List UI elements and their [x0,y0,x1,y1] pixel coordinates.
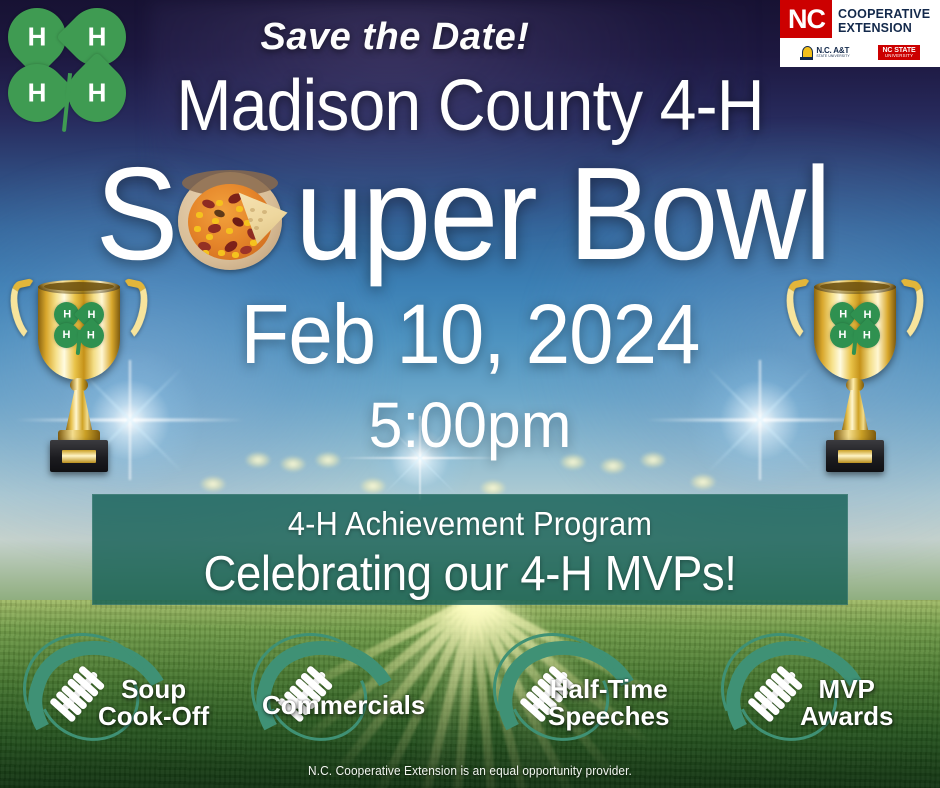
bell-tower-icon [800,45,813,60]
event-title-prefix: S [96,148,177,280]
trophy-handle-right [116,280,146,342]
soup-corn [196,212,203,218]
trophy-clover-emblem: HHHH [54,302,104,350]
logo-top-row: NC COOPERATIVE EXTENSION [780,0,940,38]
activity-label-line1: Commercials [262,692,425,719]
activity-label-line1: Half-Time [548,676,669,703]
logo-extension-text: EXTENSION [838,22,930,36]
event-title-suffix: uper Bowl [295,148,830,280]
stadium-bulb [360,478,386,494]
clover-leaf-letter: H [839,309,847,321]
soup-bean [239,245,253,256]
chip-speckle [262,210,267,214]
soup-corn [232,252,239,258]
clover-leaf-letter: H [63,309,71,321]
activity-label-line2: Awards [800,703,893,730]
soup-bean [201,198,216,210]
activity-label-line2: Speeches [548,703,669,730]
page-title: Madison County 4-H [38,70,903,142]
activity-label-line1: Soup [98,676,209,703]
banner-headline: Celebrating our 4-H MVPs! [118,540,821,599]
stadium-bulb [600,458,626,474]
banner-subtitle: 4-H Achievement Program [118,494,821,540]
logo-partner-row: N.C. A&T STATE UNIVERSITY NC STATE UNIVE… [780,38,940,67]
soup-corn [206,234,213,240]
activity-label-line2: Cook-Off [98,703,209,730]
activity-label: MVPAwards [800,676,893,729]
chip-speckle [254,226,259,230]
stadium-bulb [690,474,716,490]
activity-label: Half-TimeSpeeches [548,676,669,729]
nc-at-wordmark: N.C. A&T STATE UNIVERSITY [816,47,849,58]
soup-corn [216,200,223,206]
activity-label-line1: MVP [800,676,893,703]
clover-leaf-letter: H [88,330,96,342]
trophy-knob [846,378,864,392]
trophy-left: HHHH [14,262,144,477]
event-poster: NC COOPERATIVE EXTENSION N.C. A&T STATE … [0,0,940,788]
nc-cooperative-extension-logo: NC COOPERATIVE EXTENSION N.C. A&T STATE … [780,0,940,67]
logo-cooperative-text: COOPERATIVE [838,8,930,22]
trophy-knob [70,378,88,392]
soup-corn [250,240,257,246]
soup-corn [194,226,201,232]
save-the-date-text: Save the Date! [0,16,790,59]
clover-leaf-letter: H [864,330,872,342]
soup-bowl-icon [174,168,286,274]
trophy-handle-right [892,280,922,342]
activity-label: SoupCook-Off [98,676,209,729]
soup-bean [207,223,221,234]
nc-state-logo: NC STATE UNIVERSITY [878,45,919,60]
trophy-bowl-interior [820,282,890,291]
soup-corn [218,250,225,256]
extension-wordmark: COOPERATIVE EXTENSION [832,0,930,38]
event-date: Feb 10, 2024 [24,292,917,376]
chip-speckle [258,218,263,222]
trophy-nameplate [838,450,872,463]
trophy-right: HHHH [790,262,920,477]
equal-opportunity-disclaimer: N.C. Cooperative Extension is an equal o… [24,764,917,778]
event-title: S uper Bowl [0,148,940,280]
trophy-stem [65,390,93,434]
nc-state-sub: UNIVERSITY [882,54,915,58]
clover-leaf-letter: H [63,330,71,342]
trophy-bowl-interior [44,282,114,291]
soup-corn [236,206,243,212]
soup-corn [226,228,233,234]
soup-bean [230,216,244,229]
stadium-bulb [280,456,306,472]
trophy-stem [841,390,869,434]
achievement-banner: 4-H Achievement Program Celebrating our … [92,494,848,605]
trophy-nameplate [62,450,96,463]
nc-at-sub: STATE UNIVERSITY [816,55,849,58]
event-time: 5:00pm [24,393,917,457]
trophy-clover-emblem: HHHH [830,302,880,350]
soup-corn [212,218,219,224]
soup-corn [202,250,209,256]
activity-label: Commercials [262,692,425,719]
clover-leaf-letter: H [839,330,847,342]
chip-speckle [250,208,255,212]
nc-at-logo: N.C. A&T STATE UNIVERSITY [800,45,849,60]
stadium-bulb [200,476,226,492]
